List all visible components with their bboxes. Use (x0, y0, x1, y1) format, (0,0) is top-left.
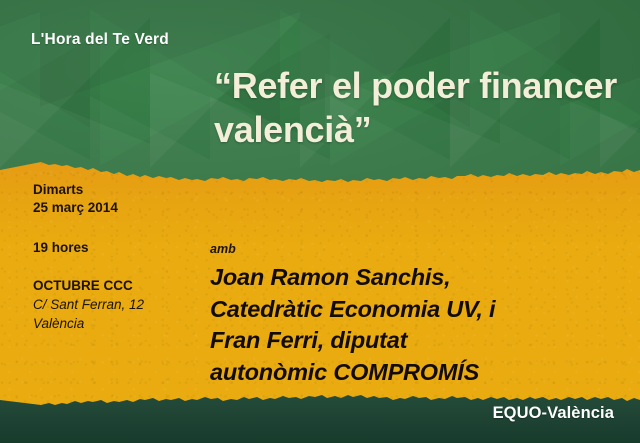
speakers-names: Joan Ramon Sanchis, Catedràtic Economia … (210, 262, 630, 388)
speaker-line-3: Fran Ferri, diputat (210, 325, 630, 357)
page-title: “Refer el poder financer valencià” (214, 64, 626, 152)
event-street: C/ Sant Ferran, 12 (33, 295, 213, 314)
text-layer: L'Hora del Te Verd “Refer el poder finan… (0, 0, 640, 443)
spacer (33, 217, 213, 239)
spacer (33, 257, 213, 277)
speakers-intro-label: amb (210, 241, 630, 257)
organizer-label: EQUO-València (0, 404, 614, 423)
speaker-line-4: autonòmic COMPROMÍS (210, 357, 630, 389)
speaker-line-2: Catedràtic Economia UV, i (210, 294, 630, 326)
event-city: València (33, 314, 213, 333)
event-venue: OCTUBRE CCC (33, 277, 213, 295)
series-kicker: L'Hora del Te Verd (31, 31, 169, 49)
speaker-line-1: Joan Ramon Sanchis, (210, 262, 630, 294)
event-time: 19 hores (33, 239, 213, 257)
event-date: 25 març 2014 (33, 199, 213, 217)
event-weekday: Dimarts (33, 181, 213, 199)
event-details: Dimarts 25 març 2014 19 hores OCTUBRE CC… (33, 181, 213, 333)
poster-canvas: L'Hora del Te Verd “Refer el poder finan… (0, 0, 640, 443)
speakers-block: amb Joan Ramon Sanchis, Catedràtic Econo… (210, 241, 630, 388)
